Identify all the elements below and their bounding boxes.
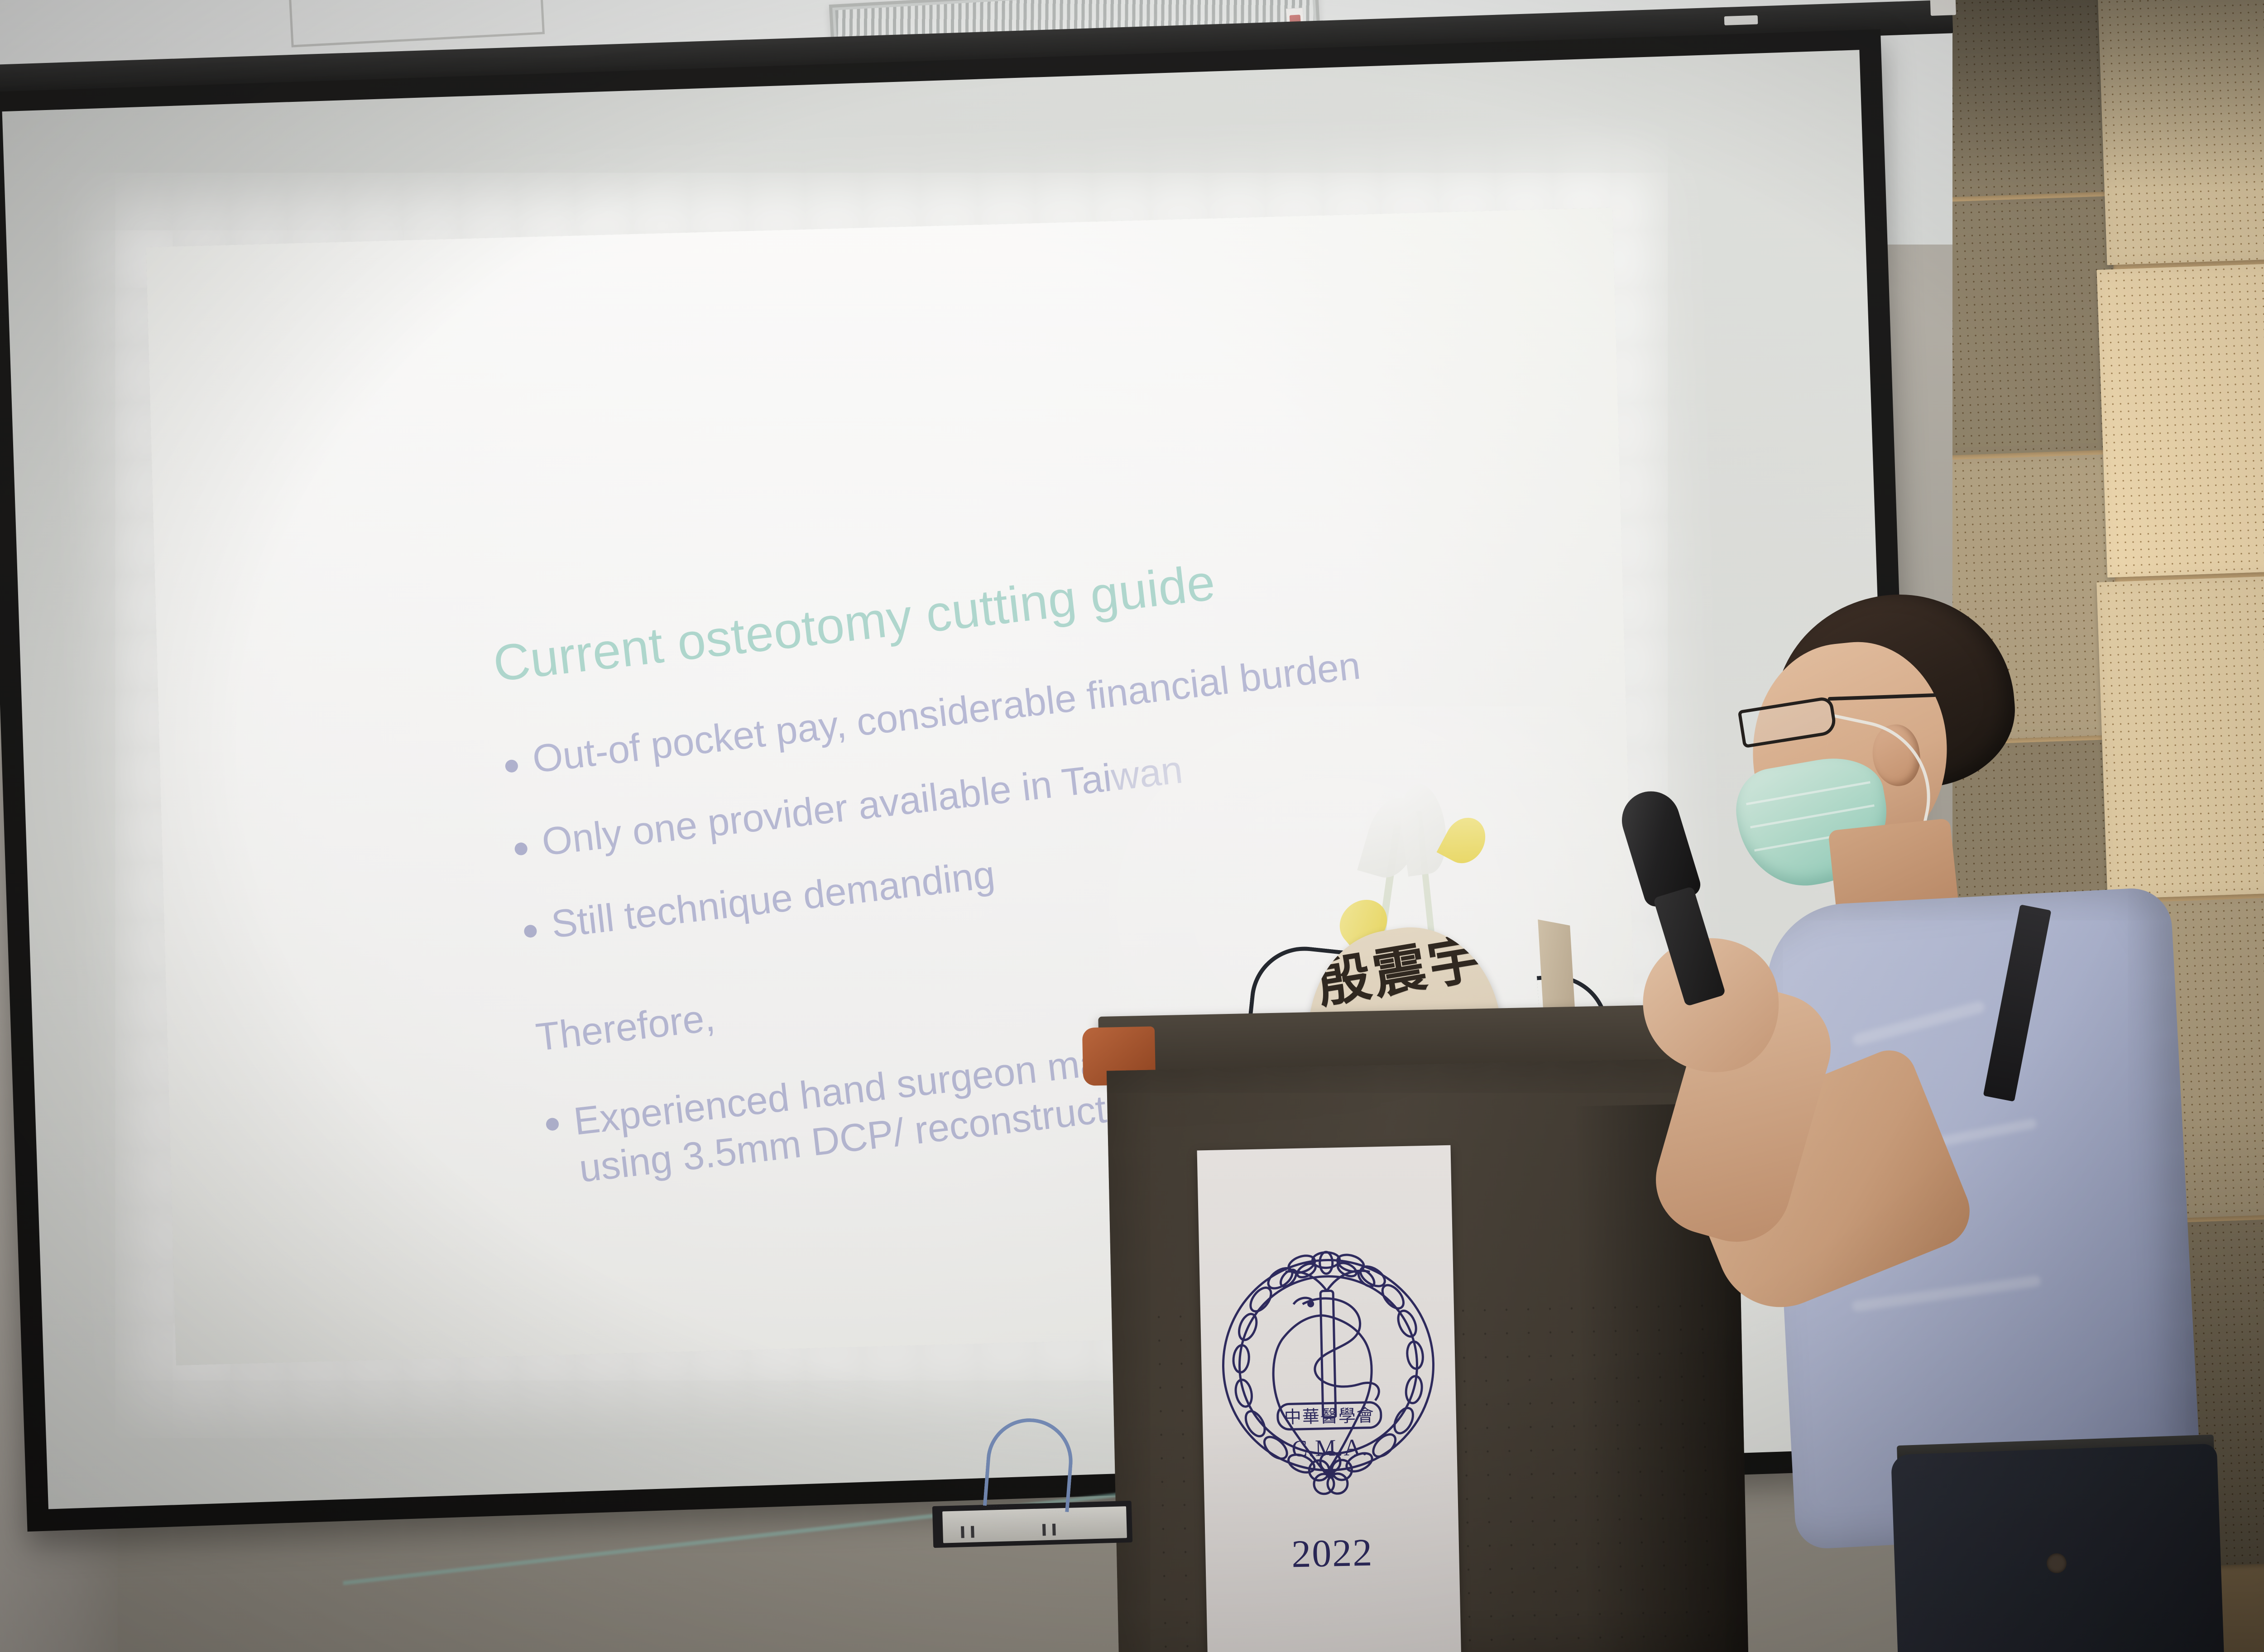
shirt-fold (1851, 1000, 1986, 1047)
outlet-slot (961, 1526, 964, 1538)
presenter-trousers (1891, 1444, 2230, 1652)
bullet-dot-icon (546, 1117, 560, 1131)
bullet-text: Still technique demanding (549, 855, 997, 945)
floor-power-outlet (932, 1501, 1132, 1548)
acoustic-panel (2096, 256, 2264, 578)
outlet-plate (942, 1506, 1127, 1543)
podium-emblem-placard: 中華醫學會 C.M.A. 2022 (1197, 1145, 1461, 1652)
svg-text:中華醫學會: 中華醫學會 (1284, 1405, 1375, 1427)
flower-petal-yellow (1437, 811, 1493, 870)
bullet-dot-icon (514, 842, 528, 856)
presenter (1684, 589, 2264, 1652)
acoustic-panel (2097, 0, 2264, 265)
eyeglass-temple-arm (1828, 693, 1937, 701)
conference-presentation-photo: Current osteotomy cutting guide Out-of p… (0, 0, 2264, 1652)
outlet-slot (1042, 1524, 1046, 1536)
screen-pull-tab[interactable] (1724, 15, 1758, 25)
cma-emblem-icon: 中華醫學會 C.M.A. (1212, 1200, 1445, 1548)
outlet-slot (971, 1526, 974, 1538)
bullet-dot-icon (523, 924, 537, 938)
shirt-fold (1851, 1275, 2041, 1312)
svg-text:C.M.A.: C.M.A. (1291, 1435, 1369, 1462)
emblem-year: 2022 (1205, 1528, 1459, 1579)
outlet-slot (1052, 1524, 1056, 1536)
bullet-dot-icon (504, 759, 518, 773)
screen-endcap (1930, 0, 1956, 16)
trouser-pocket-button (2047, 1553, 2067, 1573)
nameplate-name: 殷震宇 (1313, 931, 1488, 1011)
lectern-podium: 中華醫學會 C.M.A. 2022 (1098, 1003, 1754, 1652)
